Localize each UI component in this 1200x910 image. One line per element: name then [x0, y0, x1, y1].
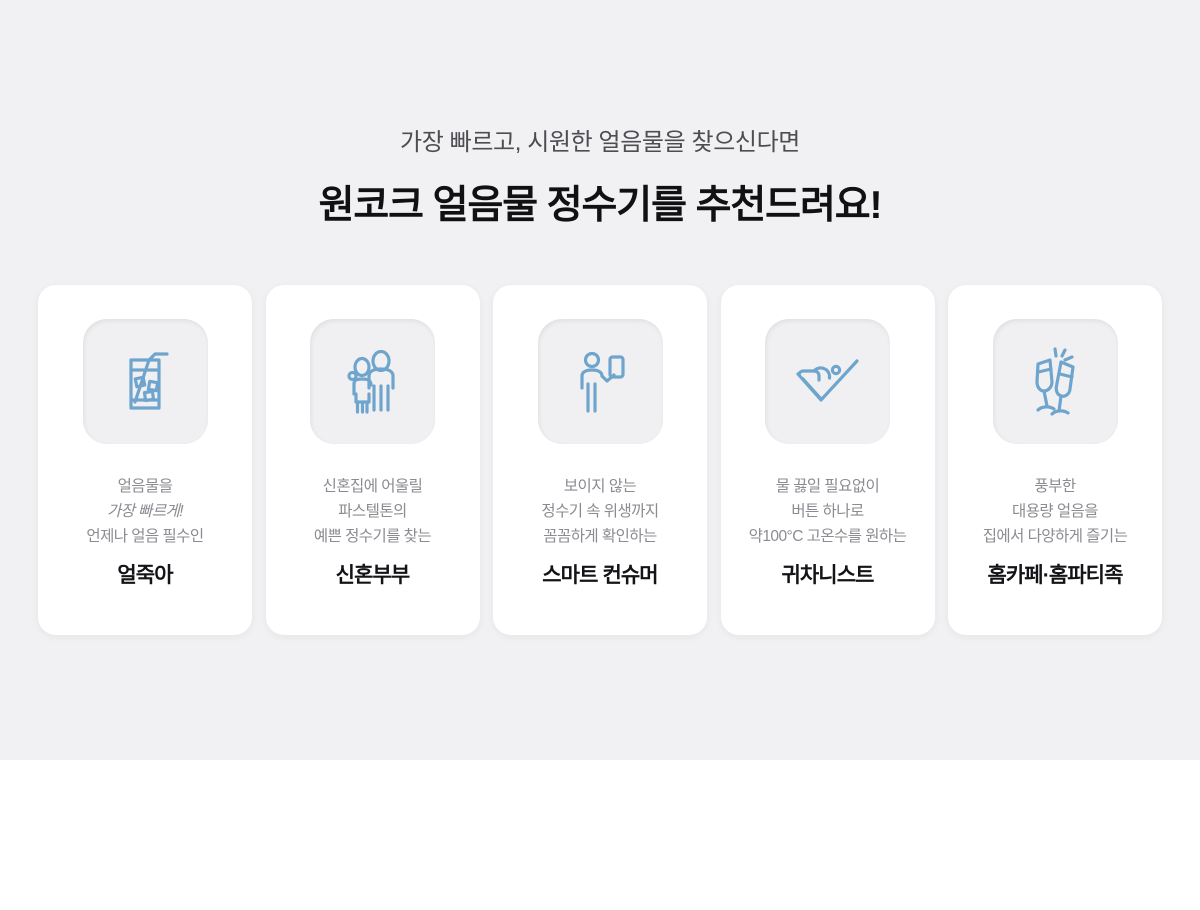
card-desc-line: 버튼 하나로: [721, 499, 935, 524]
card-text: 신혼집에 어울릴 파스텔톤의 예쁜 정수기를 찾는 신혼부부: [266, 474, 480, 589]
heading-block: 가장 빠르고, 시원한 얼음물을 찾으신다면 원코크 얼음물 정수기를 추천드려…: [0, 0, 1200, 232]
persona-card-row: 얼음물을 가장 빠르게! 언제나 얼음 필수인 얼죽아: [38, 285, 1162, 635]
card-title: 귀차니스트: [721, 563, 935, 589]
card-desc-line: 신혼집에 어울릴: [266, 474, 480, 499]
iced-drink-glass-icon: [107, 344, 183, 420]
persona-card[interactable]: 물 끓일 필요없이 버튼 하나로 약100°C 고온수를 원하는 귀차니스트: [721, 285, 935, 635]
champagne-toast-icon: [1017, 344, 1093, 420]
card-text: 보이지 않는 정수기 속 위생까지 꼼꼼하게 확인하는 스마트 컨슈머: [493, 474, 707, 589]
card-desc-line: 약100°C 고온수를 원하는: [721, 524, 935, 549]
card-desc-line: 물 끓일 필요없이: [721, 474, 935, 499]
card-desc-line: 예쁜 정수기를 찾는: [266, 524, 480, 549]
card-text: 물 끓일 필요없이 버튼 하나로 약100°C 고온수를 원하는 귀차니스트: [721, 474, 935, 589]
person-lounging-on-check-icon: [790, 344, 866, 420]
card-title: 스마트 컨슈머: [493, 563, 707, 589]
persona-card[interactable]: 얼음물을 가장 빠르게! 언제나 얼음 필수인 얼죽아: [38, 285, 252, 635]
card-desc-line: 풍부한: [948, 474, 1162, 499]
persona-card[interactable]: 풍부한 대용량 얼음을 집에서 다양하게 즐기는 홈카페·홈파티족: [948, 285, 1162, 635]
card-desc-line: 꼼꼼하게 확인하는: [493, 524, 707, 549]
card-desc-line: 파스텔톤의: [266, 499, 480, 524]
card-title: 얼죽아: [38, 563, 252, 589]
card-desc-line: 가장 빠르게!: [38, 499, 252, 524]
icon-tile: [83, 319, 208, 444]
card-title: 신혼부부: [266, 563, 480, 589]
card-desc-line: 대용량 얼음을: [948, 499, 1162, 524]
card-desc-line: 보이지 않는: [493, 474, 707, 499]
icon-tile: [993, 319, 1118, 444]
card-text: 얼음물을 가장 빠르게! 언제나 얼음 필수인 얼죽아: [38, 474, 252, 589]
persona-card[interactable]: 신혼집에 어울릴 파스텔톤의 예쁜 정수기를 찾는 신혼부부: [266, 285, 480, 635]
card-desc-line: 언제나 얼음 필수인: [38, 524, 252, 549]
icon-tile: [765, 319, 890, 444]
card-desc-line: 정수기 속 위생까지: [493, 499, 707, 524]
lower-white-band: [0, 760, 1200, 910]
persona-card[interactable]: 보이지 않는 정수기 속 위생까지 꼼꼼하게 확인하는 스마트 컨슈머: [493, 285, 707, 635]
icon-tile: [310, 319, 435, 444]
promo-page: 가장 빠르고, 시원한 얼음물을 찾으신다면 원코크 얼음물 정수기를 추천드려…: [0, 0, 1200, 910]
couple-icon: [335, 344, 411, 420]
icon-tile: [538, 319, 663, 444]
card-desc-line: 얼음물을: [38, 474, 252, 499]
person-with-phone-icon: [562, 344, 638, 420]
page-subtitle: 가장 빠르고, 시원한 얼음물을 찾으신다면: [0, 0, 1200, 159]
card-text: 풍부한 대용량 얼음을 집에서 다양하게 즐기는 홈카페·홈파티족: [948, 474, 1162, 589]
card-title: 홈카페·홈파티족: [948, 563, 1162, 589]
card-desc-line: 집에서 다양하게 즐기는: [948, 524, 1162, 549]
page-headline: 원코크 얼음물 정수기를 추천드려요!: [0, 159, 1200, 232]
